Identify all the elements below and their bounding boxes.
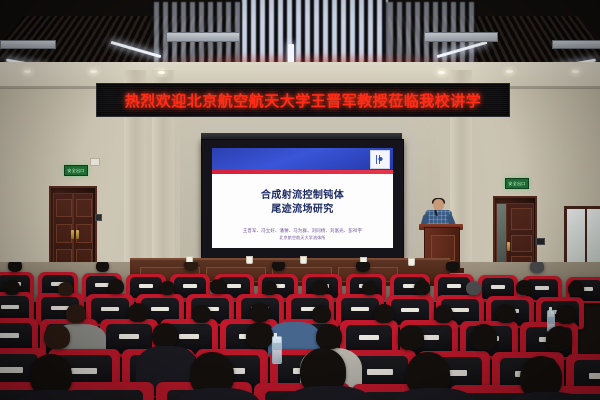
slide-affiliation: 北京航空航天大学流体所	[279, 235, 325, 241]
audience-head	[556, 305, 576, 324]
banner-text: 热烈欢迎北京航空航天大学王晋军教授莅临我校讲学	[125, 90, 482, 111]
wall-speaker-box	[90, 158, 100, 166]
audience-seating	[0, 262, 600, 400]
audience-head	[160, 281, 175, 295]
audience-head	[246, 322, 273, 348]
audience-head	[152, 323, 178, 348]
audience-head	[44, 324, 70, 349]
slide-content: 合成射流控制钝体 尾迹流场研究 王晋军、冯立好、潘翀、马为群、刘同杨、刘富光、彭…	[212, 148, 393, 248]
audience-head	[434, 305, 453, 323]
audience-head	[66, 304, 86, 323]
audience-head	[546, 326, 572, 351]
lecture-hall-photo: 热烈欢迎北京航空航天大学王晋军教授莅临我校讲学 安全出口 安全出口	[0, 0, 600, 400]
exit-sign-right: 安全出口	[505, 178, 529, 189]
audience-head	[312, 280, 328, 295]
door-panel	[76, 199, 91, 218]
audience-head	[466, 281, 481, 295]
audience-head	[4, 280, 20, 295]
door-panel	[56, 199, 71, 218]
downlight-1	[24, 70, 31, 73]
audience-head	[312, 305, 331, 323]
door-handle-right[interactable]	[76, 230, 79, 239]
card-reader[interactable]	[536, 238, 545, 245]
slide-header-band	[212, 148, 393, 170]
audience-head	[414, 280, 430, 295]
audience-head	[8, 262, 22, 272]
audience-head	[210, 279, 226, 294]
door-right-handle[interactable]	[507, 242, 510, 251]
university-logo-icon	[370, 150, 390, 169]
audience-head	[516, 280, 532, 295]
slide-authors: 王晋军、冯立好、潘翀、马为群、刘同杨、刘富光、彭祥宇	[243, 228, 362, 235]
ceiling-panel-light-edge-right	[552, 40, 600, 49]
audience-head	[262, 281, 277, 295]
audience-head	[250, 303, 270, 322]
audience-head	[568, 281, 584, 296]
audience-head	[316, 324, 342, 349]
audience-head	[356, 262, 370, 272]
slide-title-line1: 合成射流控制钝体	[261, 189, 344, 203]
audience-head	[192, 305, 211, 323]
projection-screen: 合成射流控制钝体 尾迹流场研究 王晋军、冯立好、潘翀、马为群、刘同杨、刘富光、彭…	[201, 139, 404, 259]
door-access-panel[interactable]	[95, 214, 102, 221]
audience-head	[362, 281, 377, 295]
water-bottle	[272, 336, 282, 364]
slide-title-line2: 尾迹流场研究	[261, 203, 344, 217]
door-handle-left[interactable]	[71, 230, 74, 239]
ceiling-panel-light-left	[166, 32, 240, 42]
ceiling-panel-light-edge-left	[0, 40, 56, 49]
door-panel	[511, 235, 532, 252]
audience-head	[272, 262, 285, 271]
audience-head	[374, 304, 394, 323]
downlight-4	[438, 71, 445, 74]
audience-head	[58, 282, 73, 296]
door-panel	[56, 224, 71, 243]
audience-head	[398, 325, 424, 350]
exit-sign-right-label: 安全出口	[508, 182, 525, 186]
audience-head	[184, 262, 198, 271]
led-welcome-banner: 热烈欢迎北京航空航天大学王晋军教授莅临我校讲学	[96, 83, 510, 117]
downlight-5	[506, 70, 513, 73]
downlight-3	[158, 71, 165, 74]
audience-head	[128, 303, 148, 322]
audience-head	[96, 262, 109, 272]
door-panel	[511, 208, 532, 229]
audience-head	[470, 324, 497, 350]
exit-sign-left-label: 安全出口	[67, 169, 84, 173]
audience-head	[496, 304, 516, 323]
slide-title: 合成射流控制钝体 尾迹流场研究	[261, 189, 344, 217]
ceiling-panel-light-right	[424, 32, 498, 42]
audience-head	[530, 262, 544, 273]
downlight-6	[572, 70, 579, 73]
audience-head	[108, 279, 124, 294]
downlight-2	[90, 70, 97, 73]
exit-sign-left: 安全出口	[64, 165, 88, 176]
audience-head	[446, 262, 459, 272]
slide-body: 合成射流控制钝体 尾迹流场研究 王晋军、冯立好、潘翀、马为群、刘同杨、刘富光、彭…	[212, 174, 393, 248]
